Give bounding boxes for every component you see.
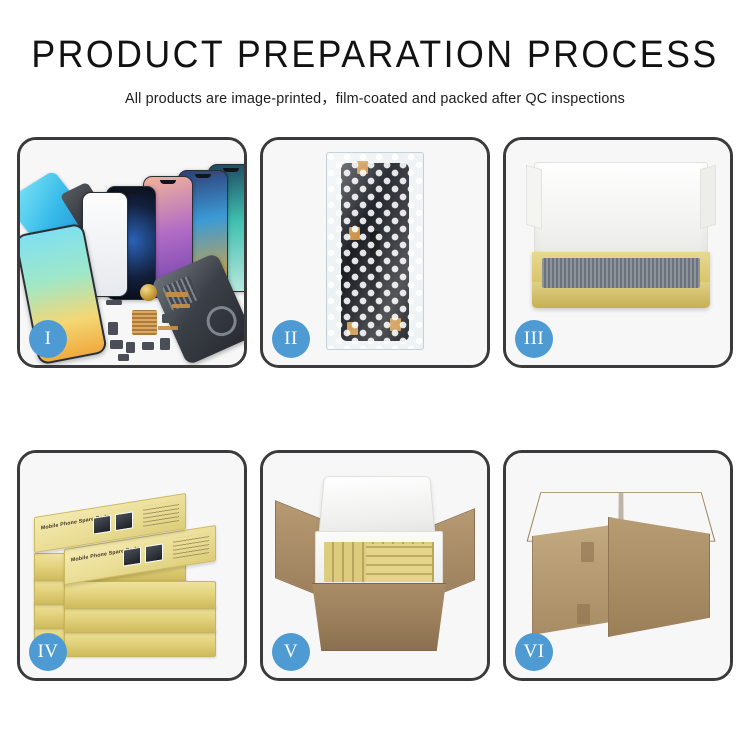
- part-chip: [160, 338, 170, 350]
- chip-grid-icon: [132, 310, 157, 335]
- process-step-panel-6[interactable]: VI: [503, 450, 733, 681]
- bubble-wrap-bag: [326, 152, 424, 350]
- box-art-swatch: [123, 547, 141, 567]
- notch-icon: [123, 190, 139, 194]
- foam-cooler-body: [315, 531, 443, 591]
- stacked-box: [64, 629, 216, 657]
- process-step-panel-5[interactable]: V: [260, 450, 490, 681]
- step-badge-6: VI: [515, 633, 553, 671]
- stacked-box: [64, 605, 216, 633]
- flex-cable-part: [172, 304, 190, 308]
- flex-cable-part: [158, 326, 178, 330]
- page-subtitle: All products are image-printed，film-coat…: [6, 87, 745, 108]
- process-step-panel-1[interactable]: I: [17, 137, 247, 368]
- box-art-swatch: [115, 511, 133, 531]
- page-header: PRODUCT PREPARATION PROCESS All products…: [0, 0, 750, 108]
- box-text-lines: [143, 501, 179, 527]
- box-art-swatch: [145, 543, 163, 563]
- notch-icon: [160, 180, 176, 184]
- box-stack: Mobile Phone Spare Parts Mobile Phone Sp…: [34, 479, 234, 659]
- process-steps-grid: I II III: [17, 137, 733, 681]
- part-chip: [118, 354, 129, 361]
- carton-left-face: [532, 525, 612, 635]
- stacked-box: [64, 581, 216, 609]
- part-chip: [110, 340, 123, 349]
- part-chip: [106, 300, 122, 305]
- part-chip: [108, 322, 118, 335]
- part-chip: [142, 342, 154, 350]
- process-step-panel-2[interactable]: II: [260, 137, 490, 368]
- process-step-panel-3[interactable]: III: [503, 137, 733, 368]
- step-badge-3: III: [515, 320, 553, 358]
- carton-right-face: [608, 517, 710, 637]
- step-badge-4: IV: [29, 633, 67, 671]
- notch-icon: [223, 168, 239, 172]
- step-badge-5: V: [272, 633, 310, 671]
- vibration-motor-icon: [140, 284, 157, 301]
- process-step-panel-4[interactable]: Mobile Phone Spare Parts Mobile Phone Sp…: [17, 450, 247, 681]
- step-badge-1: I: [29, 320, 67, 358]
- notch-icon: [195, 174, 211, 178]
- page-title: PRODUCT PREPARATION PROCESS: [23, 36, 728, 76]
- carton-front-face: [303, 583, 455, 651]
- grey-foam-insert: [542, 258, 700, 288]
- box-art-swatch: [93, 515, 111, 535]
- plastic-gloss: [327, 153, 423, 349]
- step-badge-2: II: [272, 320, 310, 358]
- spare-parts-graphic: [106, 288, 226, 364]
- part-chip: [162, 314, 170, 323]
- part-chip: [126, 342, 135, 353]
- carton-tape: [581, 542, 594, 562]
- carton-tape: [577, 604, 590, 624]
- box-text-lines: [173, 533, 209, 559]
- packed-boxes-row: [366, 544, 432, 582]
- flex-cable-part: [166, 292, 188, 297]
